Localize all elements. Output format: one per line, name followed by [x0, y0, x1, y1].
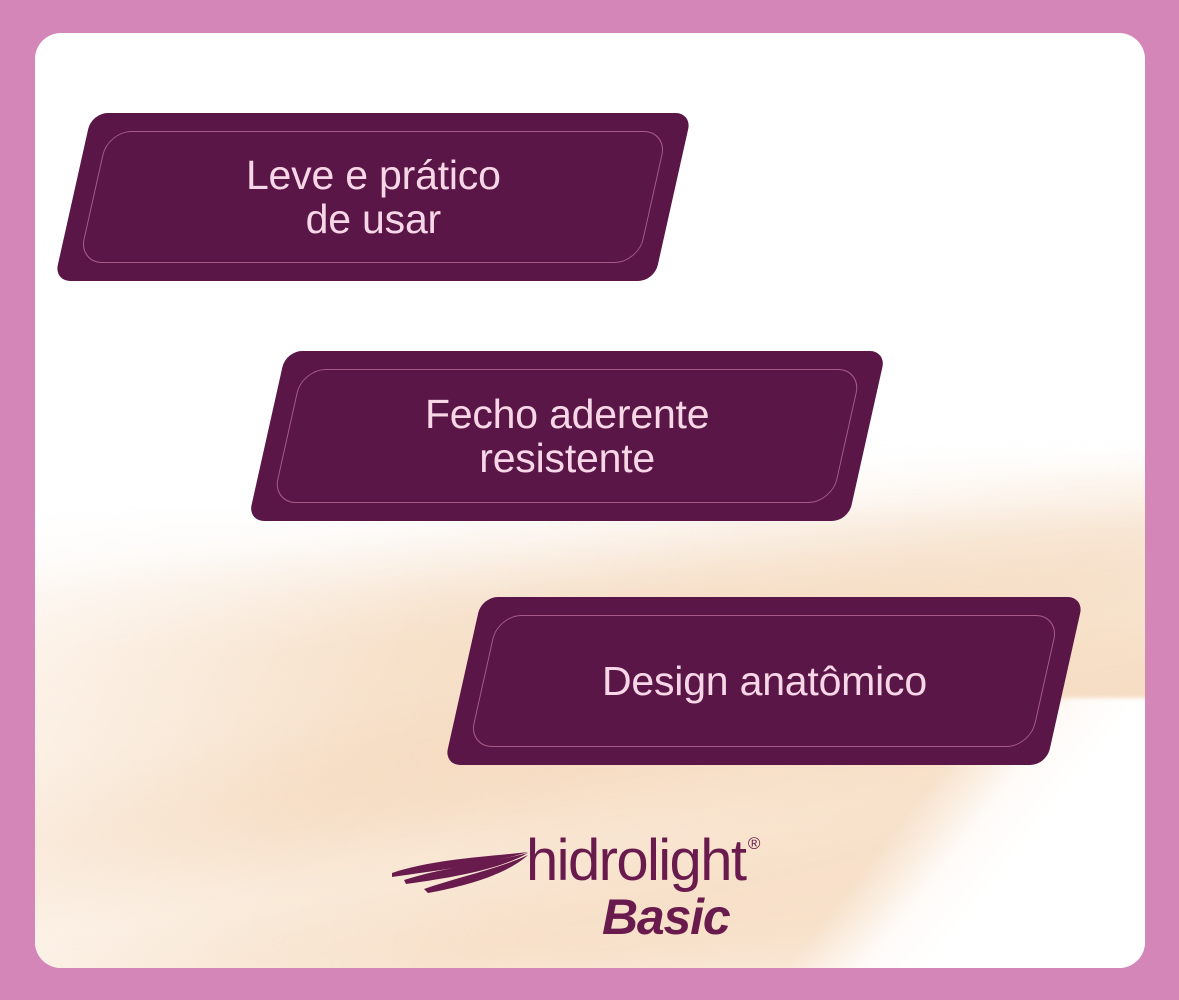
feature-banner-fecho-aderente: Fecho aderente resistente: [248, 351, 886, 521]
feature-banner-label: Fecho aderente resistente: [425, 392, 709, 481]
promo-card-frame: Leve e prático de usar Fecho aderente re…: [0, 0, 1179, 1000]
brand-sub-wordmark: Basic: [602, 892, 729, 942]
brand-wordmark: hidrolight ®: [526, 833, 745, 889]
brand-wordmark-text: hidrolight: [526, 828, 745, 893]
feature-banner-label: Leve e prático de usar: [246, 153, 501, 242]
registered-trademark-icon: ®: [748, 835, 761, 852]
swoosh-wave-icon: [390, 847, 530, 901]
brand-logo: hidrolight ® Basic: [390, 833, 790, 953]
feature-banner-label: Design anatômico: [602, 659, 927, 703]
promo-card: Leve e prático de usar Fecho aderente re…: [35, 33, 1145, 968]
feature-banner-leve-e-pratico: Leve e prático de usar: [54, 113, 692, 281]
feature-banner-design-anatomico: Design anatômico: [444, 597, 1084, 765]
